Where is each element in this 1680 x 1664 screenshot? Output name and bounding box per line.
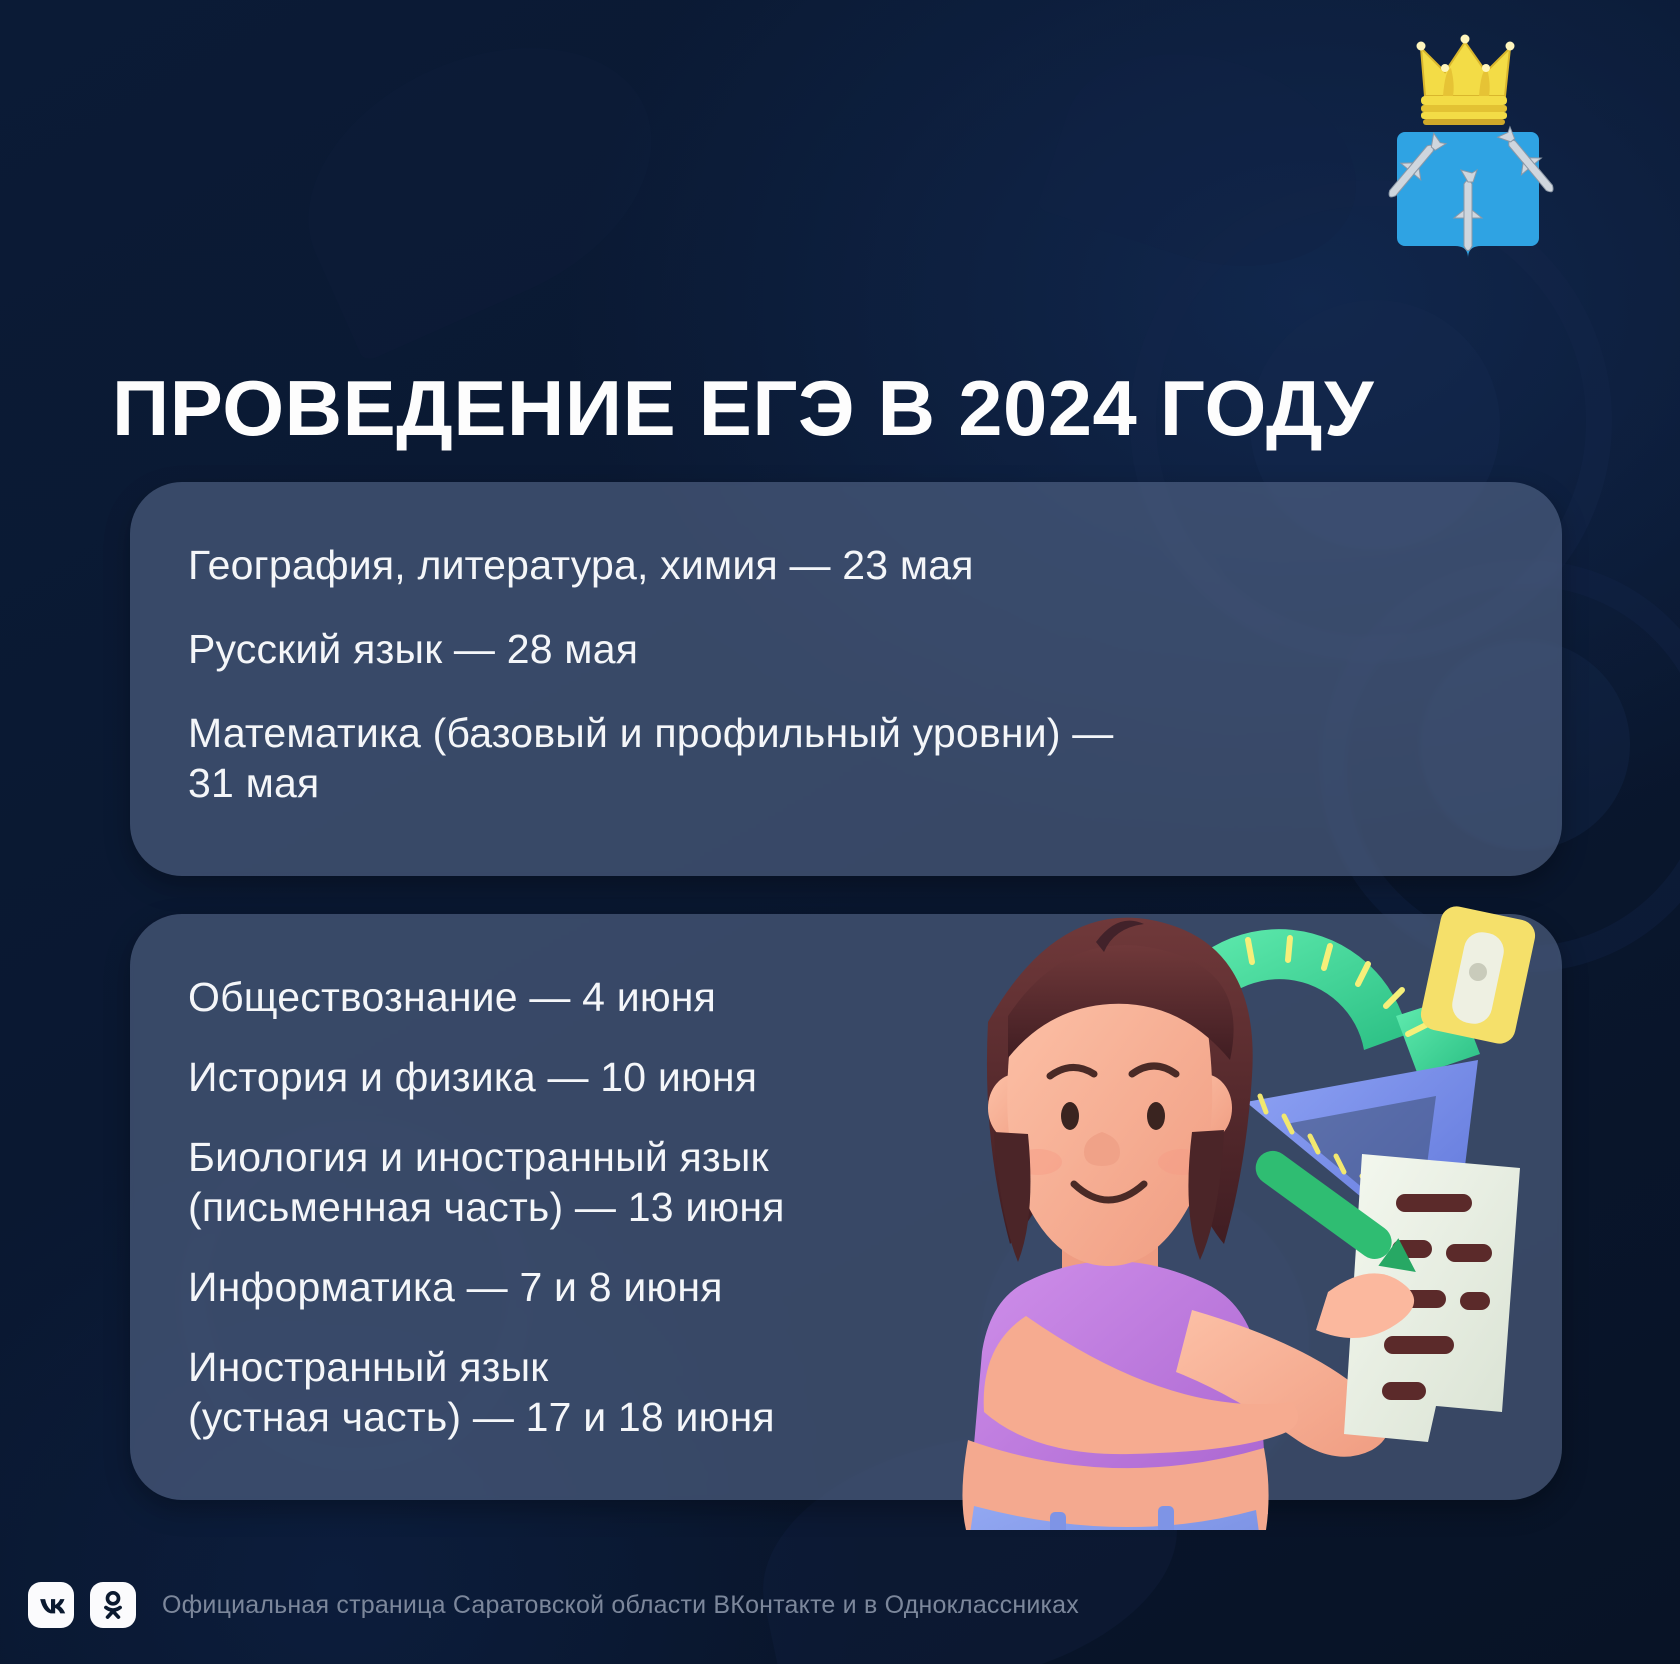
exam-schedule-card-may: География, литература, химия — 23 мая Ру…: [130, 482, 1562, 876]
vk-icon[interactable]: [28, 1582, 74, 1628]
exam-schedule-card-june: Обществознание — 4 июня История и физика…: [130, 914, 1562, 1500]
schedule-row: История и физика — 10 июня: [188, 1052, 1128, 1102]
shield-icon: [1383, 124, 1562, 258]
ok-icon[interactable]: [90, 1582, 136, 1628]
schedule-row: Информатика — 7 и 8 июня: [188, 1262, 1128, 1312]
crown-icon: [1417, 35, 1515, 126]
schedule-row: Математика (базовый и профильный уровни)…: [188, 708, 1368, 808]
schedule-row: География, литература, химия — 23 мая: [188, 540, 1368, 590]
footer: Официальная страница Саратовской области…: [0, 1546, 1680, 1664]
saratov-coat-of-arms-icon: [1383, 18, 1573, 268]
schedule-row: Русский язык — 28 мая: [188, 624, 1368, 674]
jeans: [956, 1506, 1272, 1530]
schedule-row: Биология и иностранный язык (письменная …: [188, 1132, 1128, 1232]
belt-loop: [1050, 1512, 1066, 1530]
poster-root: ПРОВЕДЕНИЕ ЕГЭ В 2024 ГОДУ География, ли…: [0, 0, 1680, 1664]
belt-loop: [1158, 1506, 1174, 1530]
schedule-row: Иностранный язык (устная часть) — 17 и 1…: [188, 1342, 1128, 1442]
page-title: ПРОВЕДЕНИЕ ЕГЭ В 2024 ГОДУ: [112, 368, 1560, 450]
schedule-row: Обществознание — 4 июня: [188, 972, 1128, 1022]
footer-text: Официальная страница Саратовской области…: [162, 1591, 1079, 1620]
ok-glyph: [98, 1590, 128, 1620]
vk-glyph: [36, 1590, 66, 1620]
